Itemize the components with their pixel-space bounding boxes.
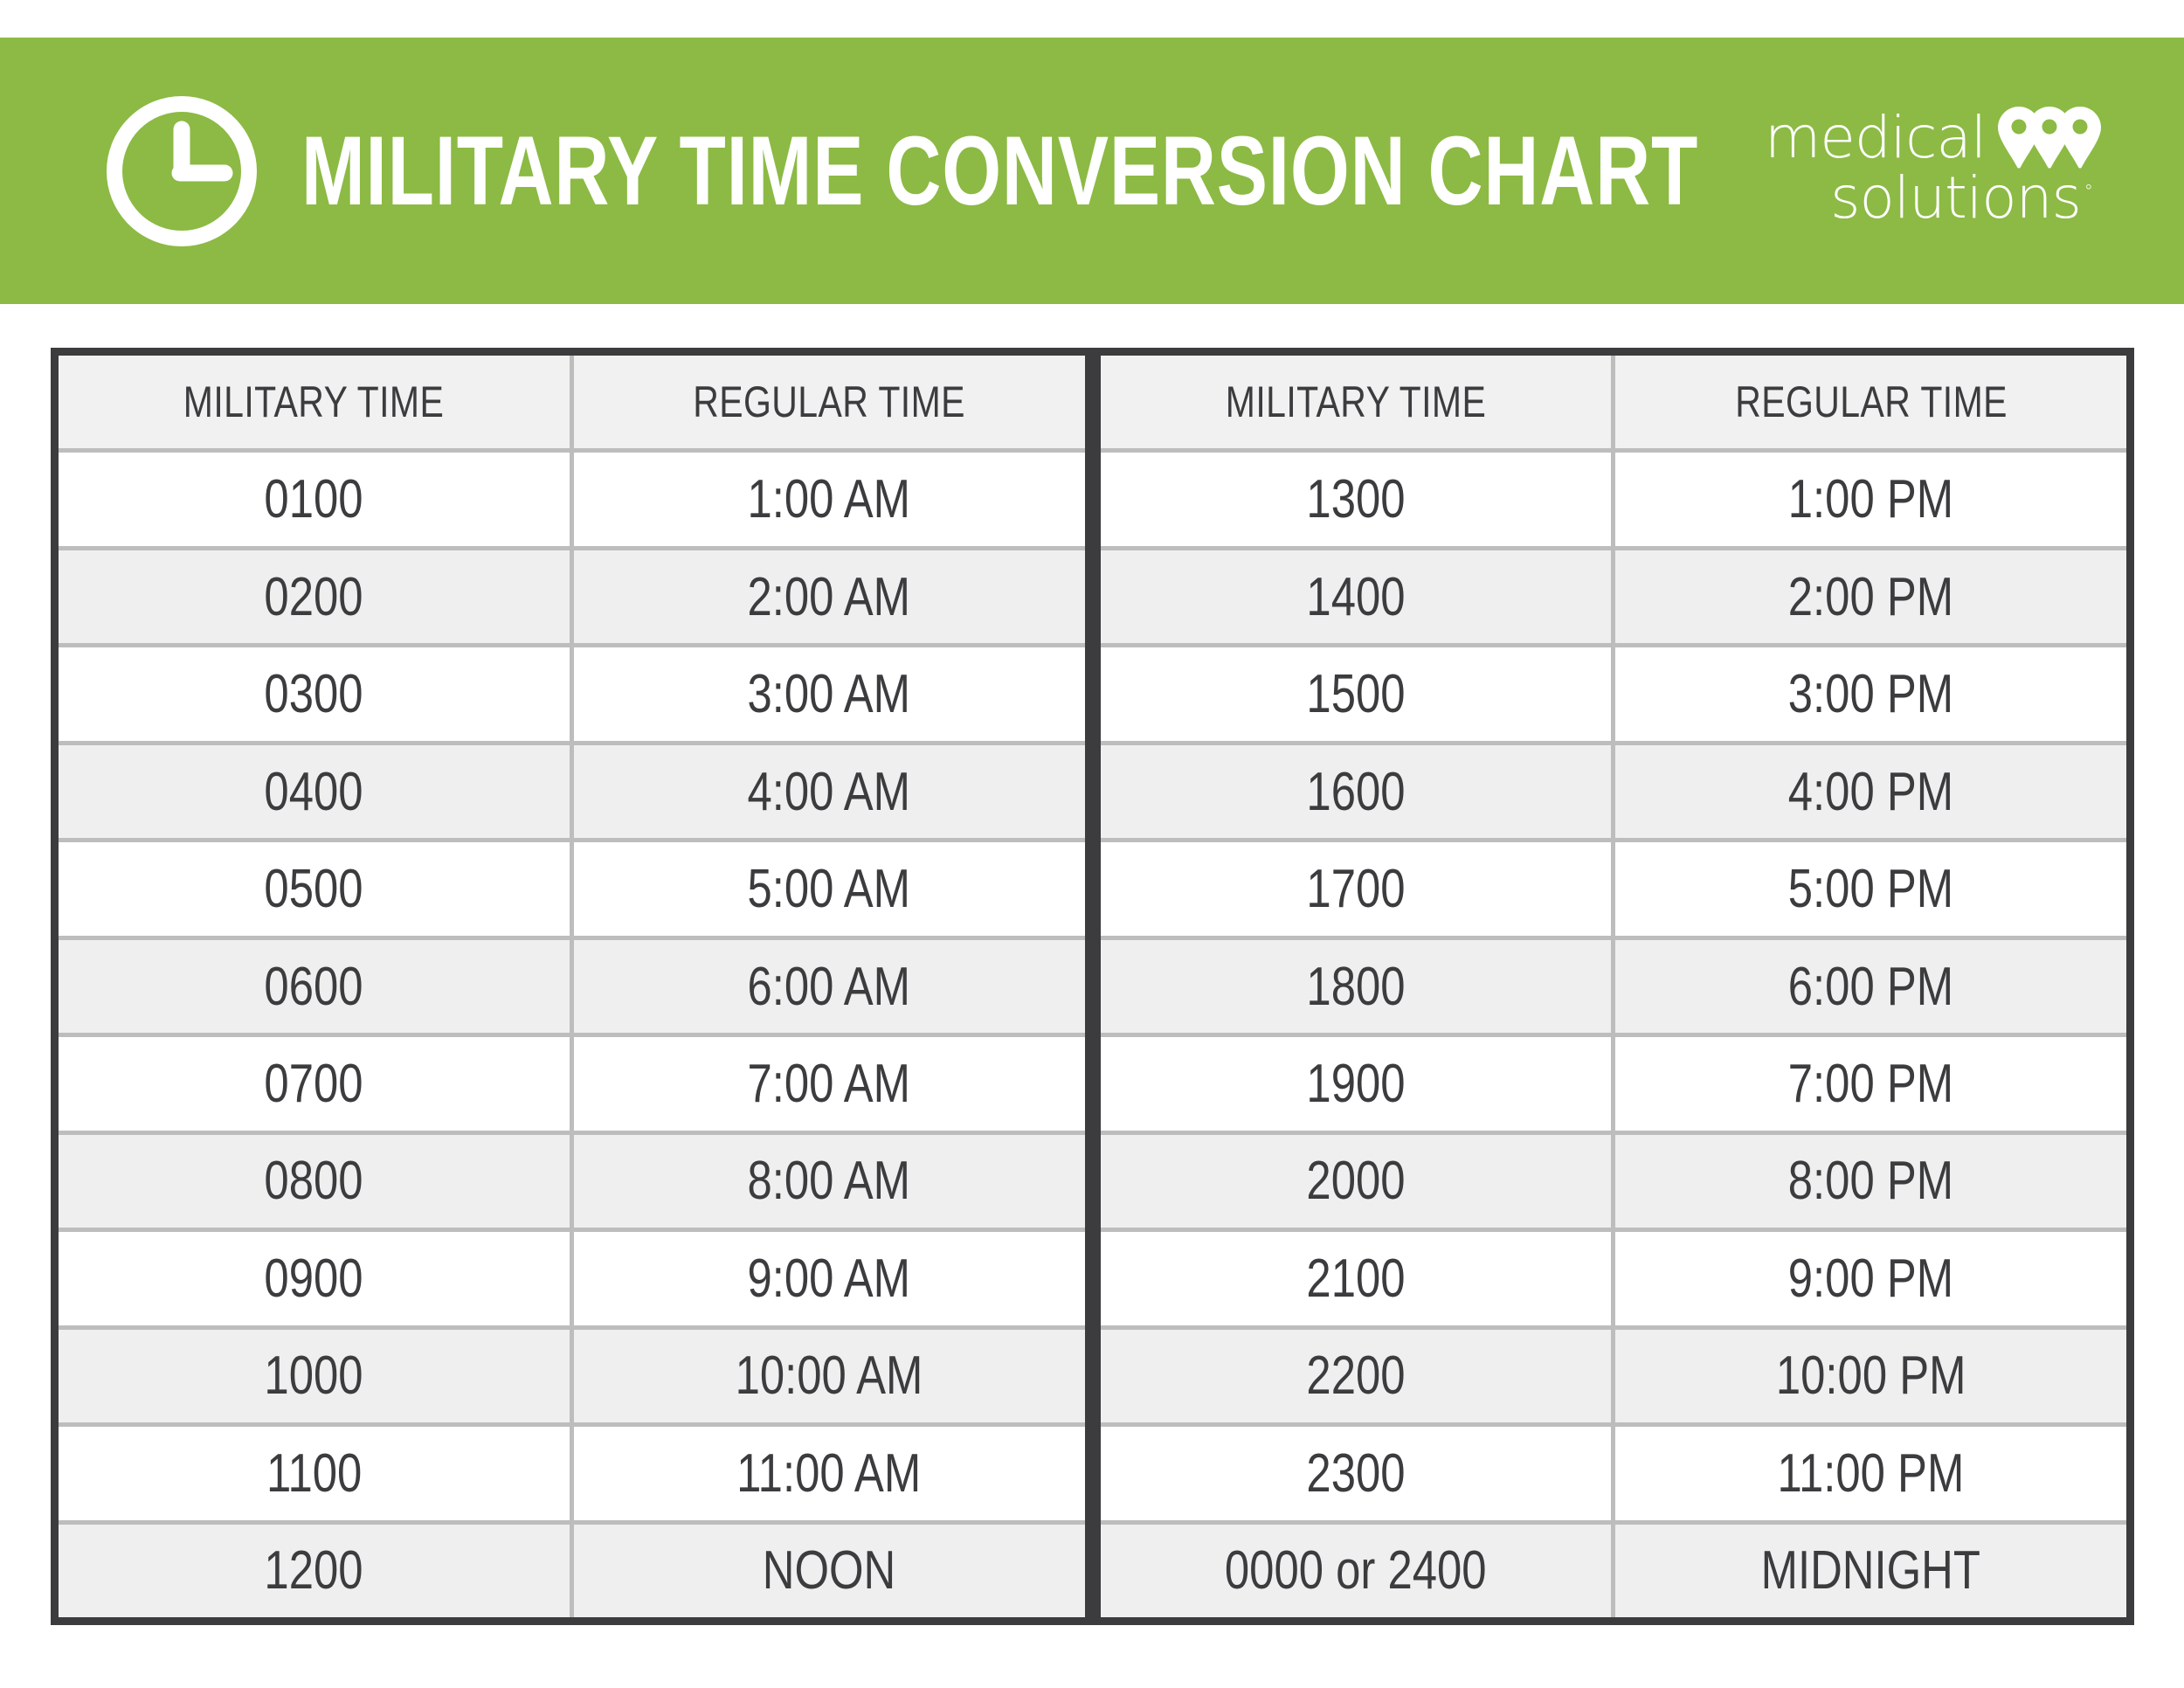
regular-time-cell: MIDNIGHT bbox=[1615, 1525, 2126, 1617]
left-column-header-military-time: MILITARY TIME bbox=[59, 356, 570, 448]
military-time-cell: 2100 bbox=[1101, 1232, 1612, 1325]
table-row: 04004:00 AM bbox=[59, 745, 1085, 842]
regular-time-cell: 8:00 PM bbox=[1615, 1135, 2126, 1228]
table-row: 14002:00 PM bbox=[1101, 550, 2127, 647]
right-table: MILITARY TIMEREGULAR TIME13001:00 PM1400… bbox=[1101, 356, 2127, 1617]
regular-time-cell: 3:00 PM bbox=[1615, 647, 2126, 740]
brand-logo[interactable]: medical solutions ° bbox=[1765, 106, 2132, 237]
military-time-cell: 1700 bbox=[1101, 842, 1612, 935]
regular-time-cell: 2:00 PM bbox=[1615, 550, 2126, 643]
left-column-header-regular-time: REGULAR TIME bbox=[574, 356, 1085, 448]
clock-icon bbox=[103, 93, 260, 250]
table-row: 100010:00 AM bbox=[59, 1330, 1085, 1427]
left-header-row: MILITARY TIMEREGULAR TIME bbox=[59, 356, 1085, 453]
map-pins-icon bbox=[1998, 106, 2101, 170]
table-row: 06006:00 AM bbox=[59, 940, 1085, 1037]
registered-mark: ° bbox=[2084, 183, 2092, 200]
military-time-cell: 0400 bbox=[59, 745, 570, 838]
brand-name-line2: solutions bbox=[1830, 170, 2081, 225]
military-time-cell: 0100 bbox=[59, 453, 570, 545]
military-time-cell: 1800 bbox=[1101, 940, 1612, 1033]
military-time-cell: 1500 bbox=[1101, 647, 1612, 740]
table-row: 21009:00 PM bbox=[1101, 1232, 2127, 1329]
military-time-cell: 2300 bbox=[1101, 1427, 1612, 1519]
table-row: 0000 or 2400MIDNIGHT bbox=[1101, 1525, 2127, 1617]
regular-time-cell: 4:00 PM bbox=[1615, 745, 2126, 838]
table-row: 230011:00 PM bbox=[1101, 1427, 2127, 1524]
military-time-cell: 2200 bbox=[1101, 1330, 1612, 1422]
table-row: 16004:00 PM bbox=[1101, 745, 2127, 842]
regular-time-cell: 2:00 AM bbox=[574, 550, 1085, 643]
military-time-cell: 0000 or 2400 bbox=[1101, 1525, 1612, 1617]
regular-time-cell: 1:00 AM bbox=[574, 453, 1085, 545]
table-row: 02002:00 AM bbox=[59, 550, 1085, 647]
table-row: 05005:00 AM bbox=[59, 842, 1085, 939]
brand-name-line1: medical bbox=[1765, 110, 1986, 165]
table-row: 220010:00 PM bbox=[1101, 1330, 2127, 1427]
regular-time-cell: 10:00 PM bbox=[1615, 1330, 2126, 1422]
regular-time-cell: 5:00 PM bbox=[1615, 842, 2126, 935]
regular-time-cell: 3:00 AM bbox=[574, 647, 1085, 740]
left-table: MILITARY TIMEREGULAR TIME01001:00 AM0200… bbox=[59, 356, 1085, 1617]
page-title: MILITARY TIME CONVERSION CHART bbox=[301, 122, 1698, 220]
table-row: 07007:00 AM bbox=[59, 1037, 1085, 1134]
table-row: 18006:00 PM bbox=[1101, 940, 2127, 1037]
regular-time-cell: 6:00 AM bbox=[574, 940, 1085, 1033]
right-column-header-military-time: MILITARY TIME bbox=[1101, 356, 1612, 448]
military-time-cell: 0900 bbox=[59, 1232, 570, 1325]
regular-time-cell: 1:00 PM bbox=[1615, 453, 2126, 545]
regular-time-cell: 9:00 PM bbox=[1615, 1232, 2126, 1325]
table-row: 13001:00 PM bbox=[1101, 453, 2127, 550]
table-row: 20008:00 PM bbox=[1101, 1135, 2127, 1232]
military-time-cell: 2000 bbox=[1101, 1135, 1612, 1228]
header-banner: MILITARY TIME CONVERSION CHART medical s… bbox=[0, 38, 2184, 304]
military-time-cell: 0200 bbox=[59, 550, 570, 643]
regular-time-cell: 7:00 PM bbox=[1615, 1037, 2126, 1130]
table-row: 09009:00 AM bbox=[59, 1232, 1085, 1329]
military-time-cell: 1300 bbox=[1101, 453, 1612, 545]
regular-time-cell: NOON bbox=[574, 1525, 1085, 1617]
military-time-cell: 1400 bbox=[1101, 550, 1612, 643]
right-header-row: MILITARY TIMEREGULAR TIME bbox=[1101, 356, 2127, 453]
conversion-table-frame: MILITARY TIMEREGULAR TIME01001:00 AM0200… bbox=[51, 348, 2134, 1625]
military-time-cell: 1200 bbox=[59, 1525, 570, 1617]
regular-time-cell: 8:00 AM bbox=[574, 1135, 1085, 1228]
military-time-cell: 0500 bbox=[59, 842, 570, 935]
table-row: 110011:00 AM bbox=[59, 1427, 1085, 1524]
regular-time-cell: 4:00 AM bbox=[574, 745, 1085, 838]
table-row: 08008:00 AM bbox=[59, 1135, 1085, 1232]
regular-time-cell: 7:00 AM bbox=[574, 1037, 1085, 1130]
table-center-divider bbox=[1085, 356, 1101, 1617]
regular-time-cell: 6:00 PM bbox=[1615, 940, 2126, 1033]
regular-time-cell: 10:00 AM bbox=[574, 1330, 1085, 1422]
regular-time-cell: 11:00 PM bbox=[1615, 1427, 2126, 1519]
table-row: 01001:00 AM bbox=[59, 453, 1085, 550]
table-row: 1200NOON bbox=[59, 1525, 1085, 1617]
regular-time-cell: 11:00 AM bbox=[574, 1427, 1085, 1519]
military-time-cell: 1100 bbox=[59, 1427, 570, 1519]
regular-time-cell: 9:00 AM bbox=[574, 1232, 1085, 1325]
table-row: 17005:00 PM bbox=[1101, 842, 2127, 939]
regular-time-cell: 5:00 AM bbox=[574, 842, 1085, 935]
military-time-cell: 0600 bbox=[59, 940, 570, 1033]
military-time-cell: 1000 bbox=[59, 1330, 570, 1422]
table-row: 15003:00 PM bbox=[1101, 647, 2127, 744]
table-row: 19007:00 PM bbox=[1101, 1037, 2127, 1134]
military-time-cell: 1900 bbox=[1101, 1037, 1612, 1130]
military-time-cell: 0300 bbox=[59, 647, 570, 740]
military-time-cell: 0800 bbox=[59, 1135, 570, 1228]
military-time-cell: 0700 bbox=[59, 1037, 570, 1130]
table-row: 03003:00 AM bbox=[59, 647, 1085, 744]
military-time-cell: 1600 bbox=[1101, 745, 1612, 838]
right-column-header-regular-time: REGULAR TIME bbox=[1615, 356, 2126, 448]
